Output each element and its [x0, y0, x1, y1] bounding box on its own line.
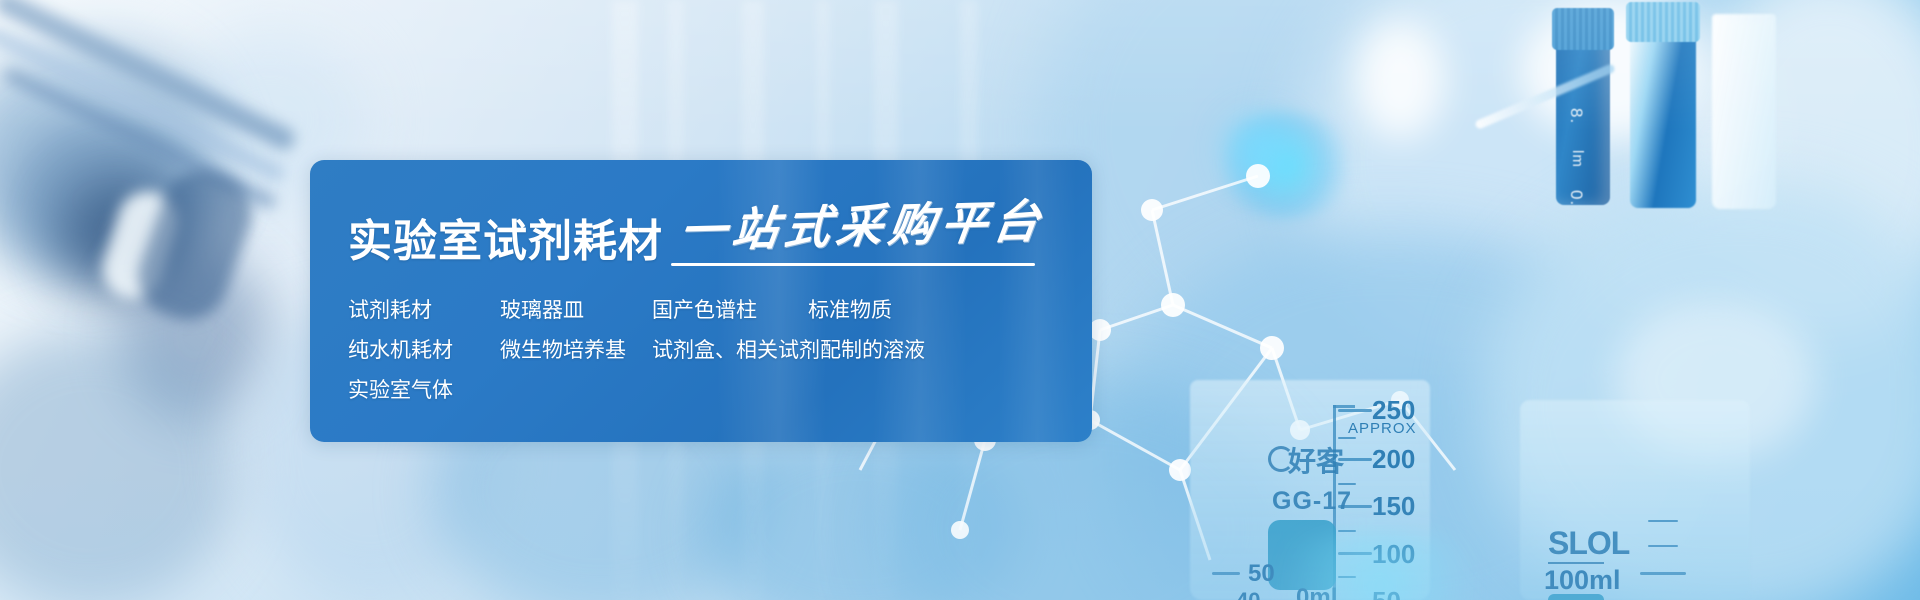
promo-card: 实验室试剂耗材 一站式采购平台 试剂耗材 玻璃器皿 国产色谱柱 标准物质 纯水机… — [310, 160, 1092, 442]
beaker-model-label: GG-17 — [1272, 487, 1352, 516]
category-item-domestic-chromatography-column[interactable]: 国产色谱柱 — [652, 300, 808, 321]
flask-tick-1 — [1640, 572, 1686, 575]
beaker-brand-mark-icon — [1268, 446, 1294, 472]
headline-main-text: 实验室试剂耗材 — [348, 220, 663, 264]
category-item-water-purifier-consumables[interactable]: 纯水机耗材 — [348, 340, 500, 361]
beaker-approx-label: APPROX — [1348, 420, 1417, 437]
category-row: 试剂耗材 玻璃器皿 国产色谱柱 标准物质 — [348, 290, 1092, 330]
flask-brand-underline — [1548, 562, 1604, 564]
headline-script-text: 一站式采购平台 — [677, 198, 1048, 254]
flask-brand-logo: SLOL — [1548, 525, 1629, 562]
category-item-reference-materials[interactable]: 标准物质 — [808, 300, 892, 321]
beaker-brand-logo: 好客 — [1288, 440, 1344, 480]
category-item-reagent-consumables[interactable]: 试剂耗材 — [348, 300, 500, 321]
headline-script-wrapper: 一站式采购平台 — [677, 208, 1041, 264]
beaker-grad-150: 150 — [1372, 491, 1415, 522]
headline: 实验室试剂耗材 一站式采购平台 — [348, 202, 1092, 264]
headline-underline — [671, 263, 1035, 266]
laboratory-banner: 8. lm 0. — [0, 0, 1920, 600]
category-item-glassware[interactable]: 玻璃器皿 — [500, 300, 652, 321]
category-item-microbial-culture-media[interactable]: 微生物培养基 — [500, 340, 652, 361]
beaker-grad-200: 200 — [1372, 444, 1415, 475]
flask-tick-3 — [1648, 545, 1678, 547]
flask-tick-2 — [1648, 520, 1678, 522]
category-row: 实验室气体 — [348, 370, 1092, 410]
category-item-reagent-kits-solutions[interactable]: 试剂盒、相关试剂配制的溶液 — [652, 340, 925, 361]
beaker-small-tick — [1212, 572, 1240, 575]
category-row: 纯水机耗材 微生物培养基 试剂盒、相关试剂配制的溶液 — [348, 330, 1092, 370]
flask-blue-square — [1548, 594, 1604, 600]
category-list: 试剂耗材 玻璃器皿 国产色谱柱 标准物质 纯水机耗材 微生物培养基 试剂盒、相关… — [348, 290, 1092, 410]
category-item-laboratory-gases[interactable]: 实验室气体 — [348, 380, 500, 401]
flask-volume-label: 100ml — [1544, 565, 1621, 596]
